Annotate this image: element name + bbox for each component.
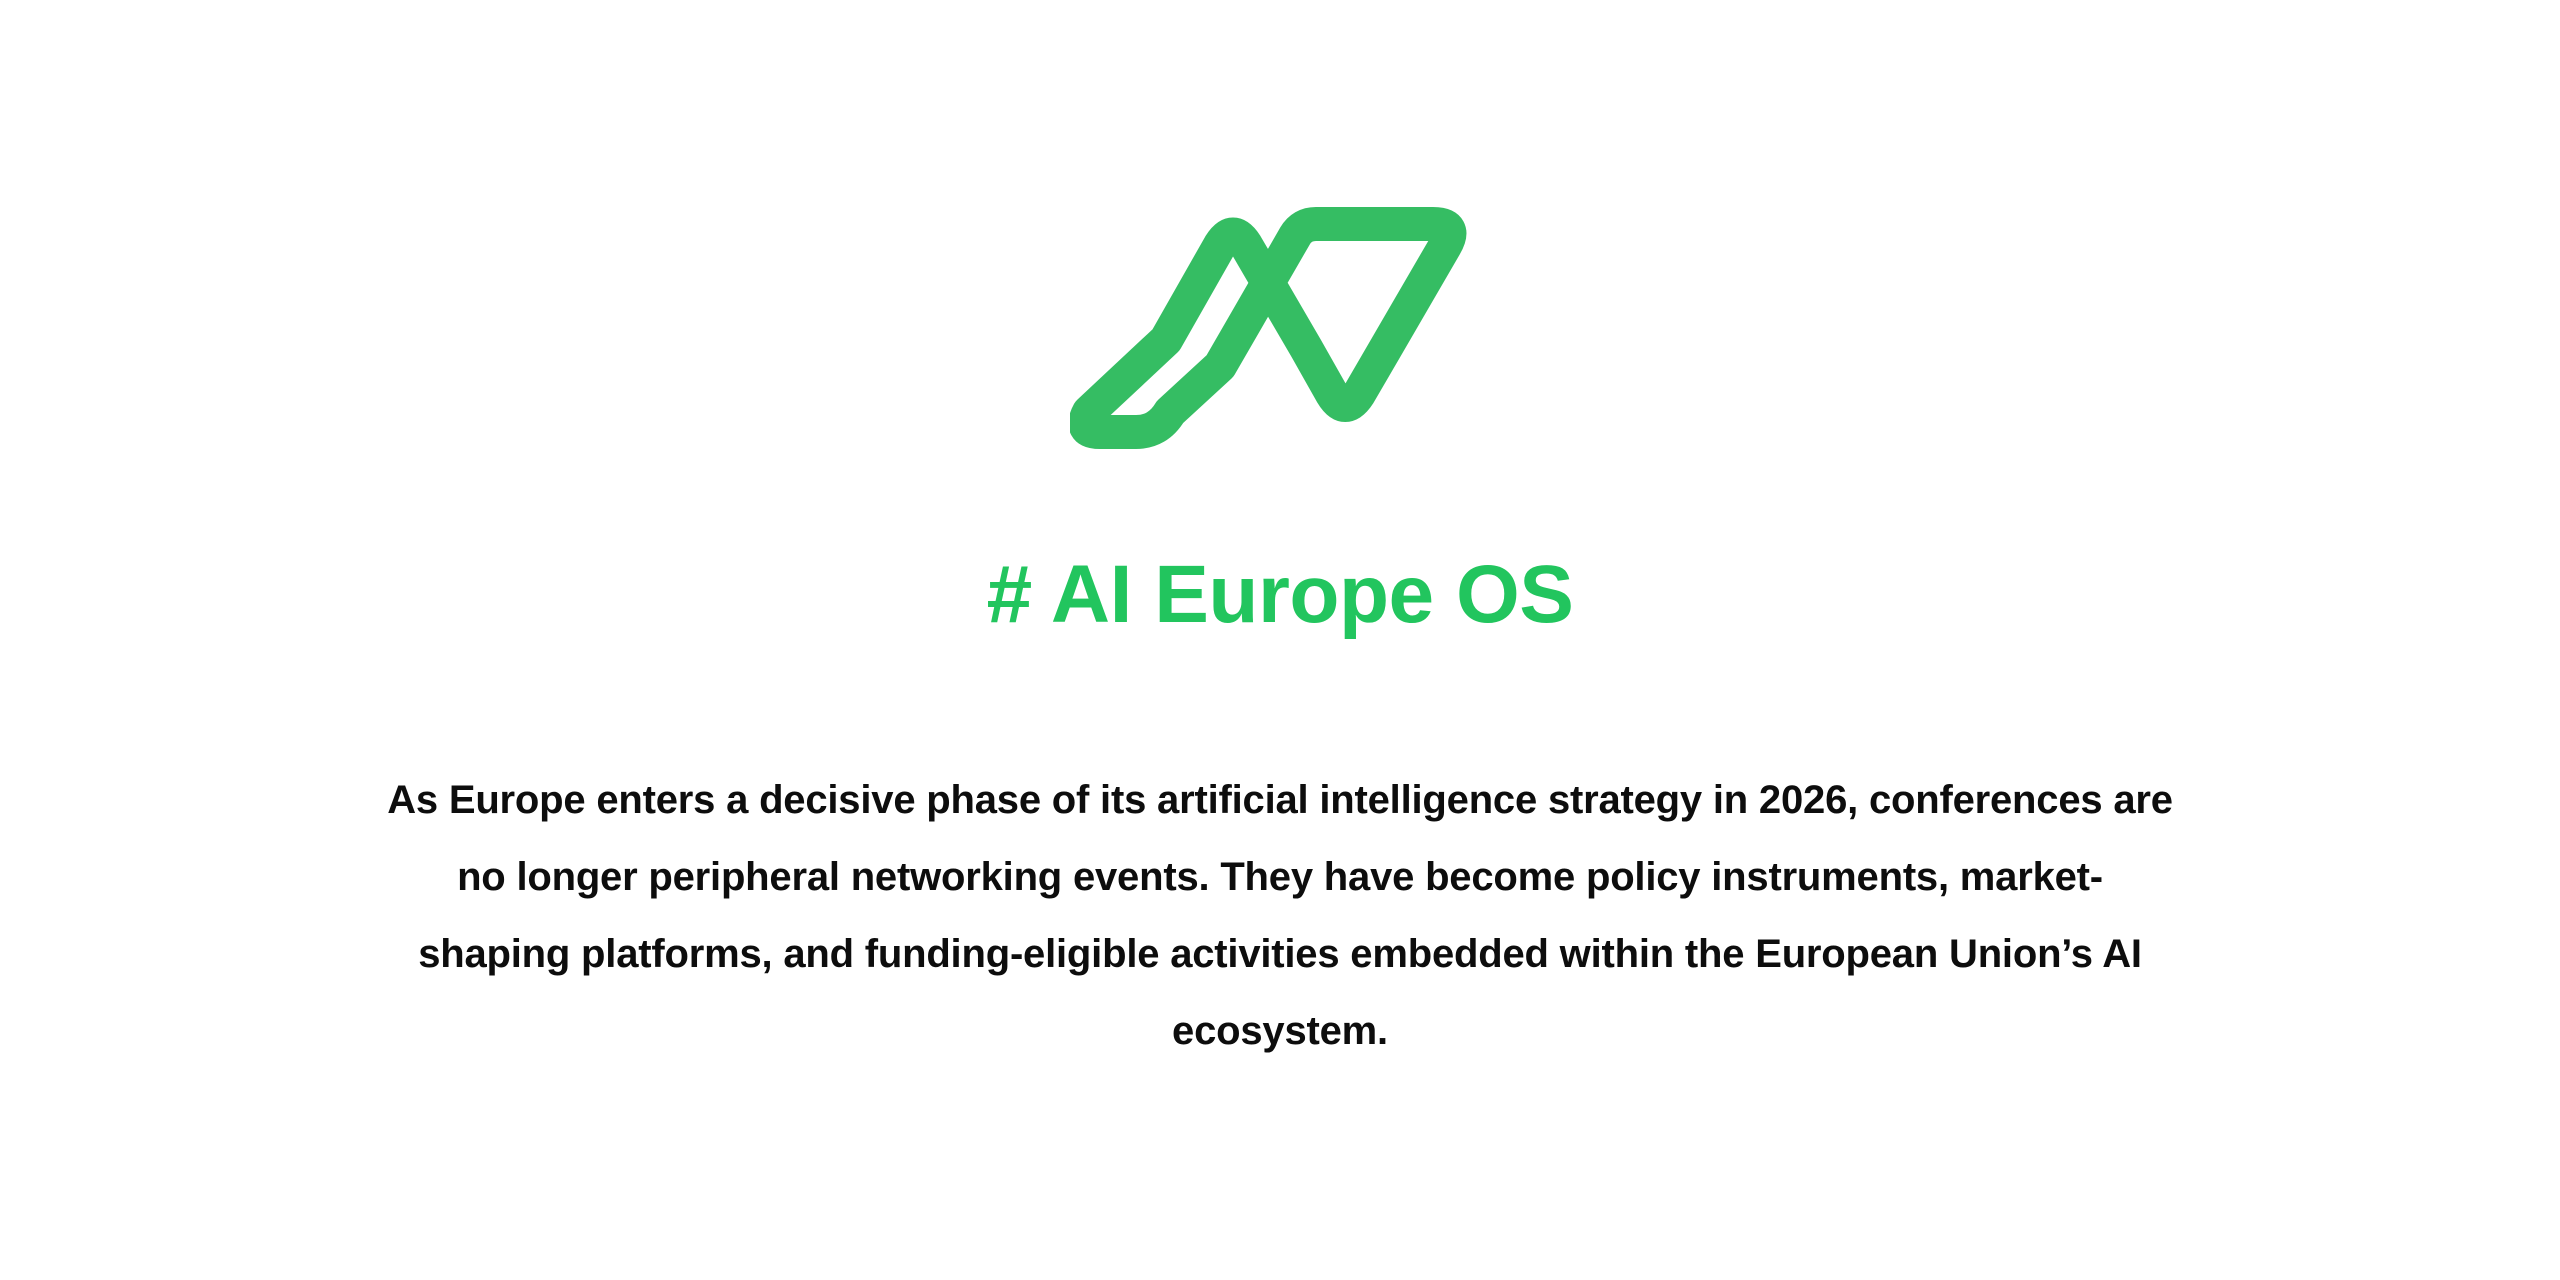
paragraph-line-1: As Europe enters a decisive phase of its… [350, 762, 2210, 839]
page-title: # AI Europe OS [0, 550, 2560, 640]
brand-logo [1070, 150, 1490, 450]
paragraph-line-4: ecosystem. [350, 993, 2210, 1070]
paragraph-line-2: no longer peripheral networking events. … [350, 839, 2210, 916]
intro-paragraph: As Europe enters a decisive phase of its… [350, 762, 2210, 1070]
paragraph-line-3: shaping platforms, and funding-eligible … [350, 916, 2210, 993]
page-root: # AI Europe OS As Europe enters a decisi… [0, 0, 2560, 1280]
ai-europe-os-logo-icon [1070, 150, 1490, 450]
